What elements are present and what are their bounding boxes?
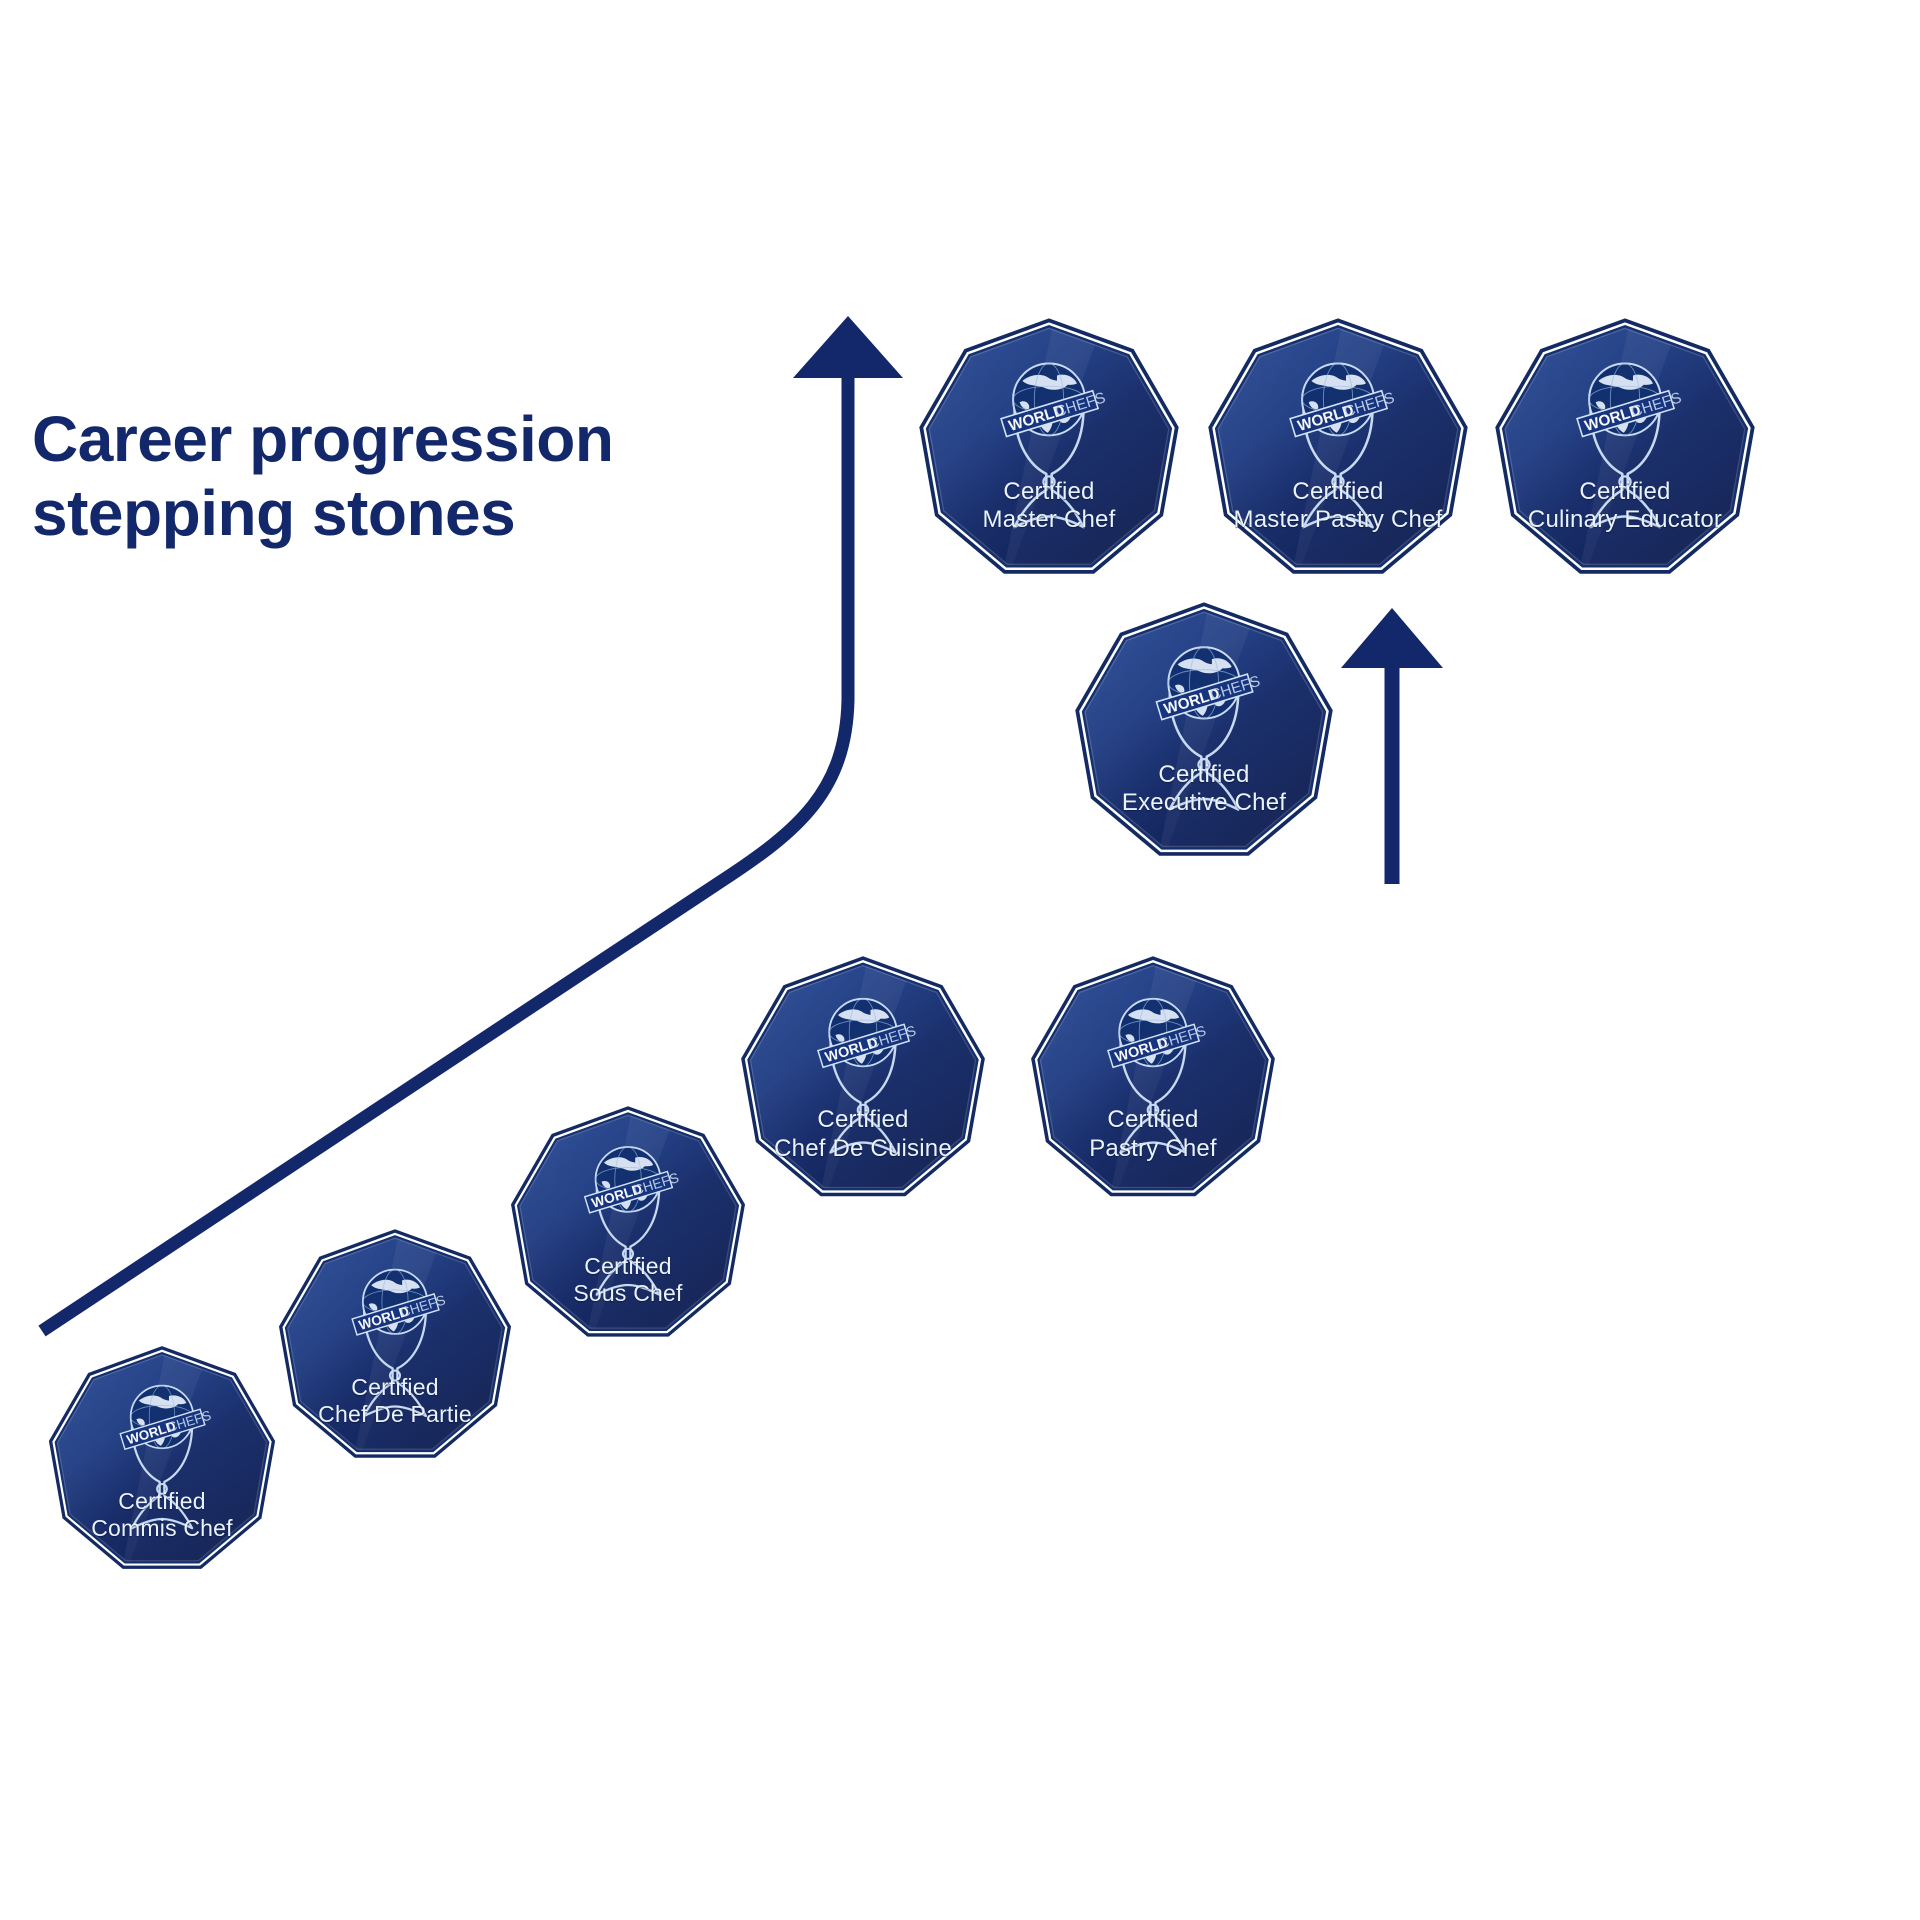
badge-shape-chef-de-cuisine: WORLD CHEFS bbox=[738, 955, 988, 1205]
page-title: Career progression stepping stones bbox=[32, 402, 692, 550]
badge-shape-master-chef: WORLD CHEFS bbox=[916, 317, 1182, 583]
page-title-line2: stepping stones bbox=[32, 476, 692, 550]
badge-master-pastry-chef[interactable]: WORLD CHEFS CertifiedMaster Pastry Chef bbox=[1205, 317, 1471, 583]
badge-chef-de-partie[interactable]: WORLD CHEFS CertifiedChef De Partie bbox=[276, 1228, 514, 1466]
badge-shape-culinary-educator: WORLD CHEFS bbox=[1492, 317, 1758, 583]
badge-culinary-educator[interactable]: WORLD CHEFS CertifiedCulinary Educator bbox=[1492, 317, 1758, 583]
badge-shape-pastry-chef: WORLD CHEFS bbox=[1028, 955, 1278, 1205]
career-progression-diagram: Career progression stepping stones bbox=[0, 0, 1920, 1920]
badge-sous-chef[interactable]: WORLD CHEFS CertifiedSous Chef bbox=[508, 1105, 748, 1345]
badge-shape-executive-chef: WORLD CHEFS bbox=[1072, 601, 1336, 865]
badge-executive-chef[interactable]: WORLD CHEFS CertifiedExecutive Chef bbox=[1072, 601, 1336, 865]
badge-pastry-chef[interactable]: WORLD CHEFS CertifiedPastry Chef bbox=[1028, 955, 1278, 1205]
badge-commis-chef[interactable]: WORLD CHEFS CertifiedCommis Chef bbox=[46, 1345, 278, 1577]
badge-shape-chef-de-partie: WORLD CHEFS bbox=[276, 1228, 514, 1466]
pastry-progression-arrow bbox=[1341, 608, 1443, 884]
page-title-line1: Career progression bbox=[32, 402, 692, 476]
badge-shape-commis-chef: WORLD CHEFS bbox=[46, 1345, 278, 1577]
badge-shape-sous-chef: WORLD CHEFS bbox=[508, 1105, 748, 1345]
badge-chef-de-cuisine[interactable]: WORLD CHEFS CertifiedChef De Cuisine bbox=[738, 955, 988, 1205]
badge-shape-master-pastry-chef: WORLD CHEFS bbox=[1205, 317, 1471, 583]
badge-master-chef[interactable]: WORLD CHEFS CertifiedMaster Chef bbox=[916, 317, 1182, 583]
